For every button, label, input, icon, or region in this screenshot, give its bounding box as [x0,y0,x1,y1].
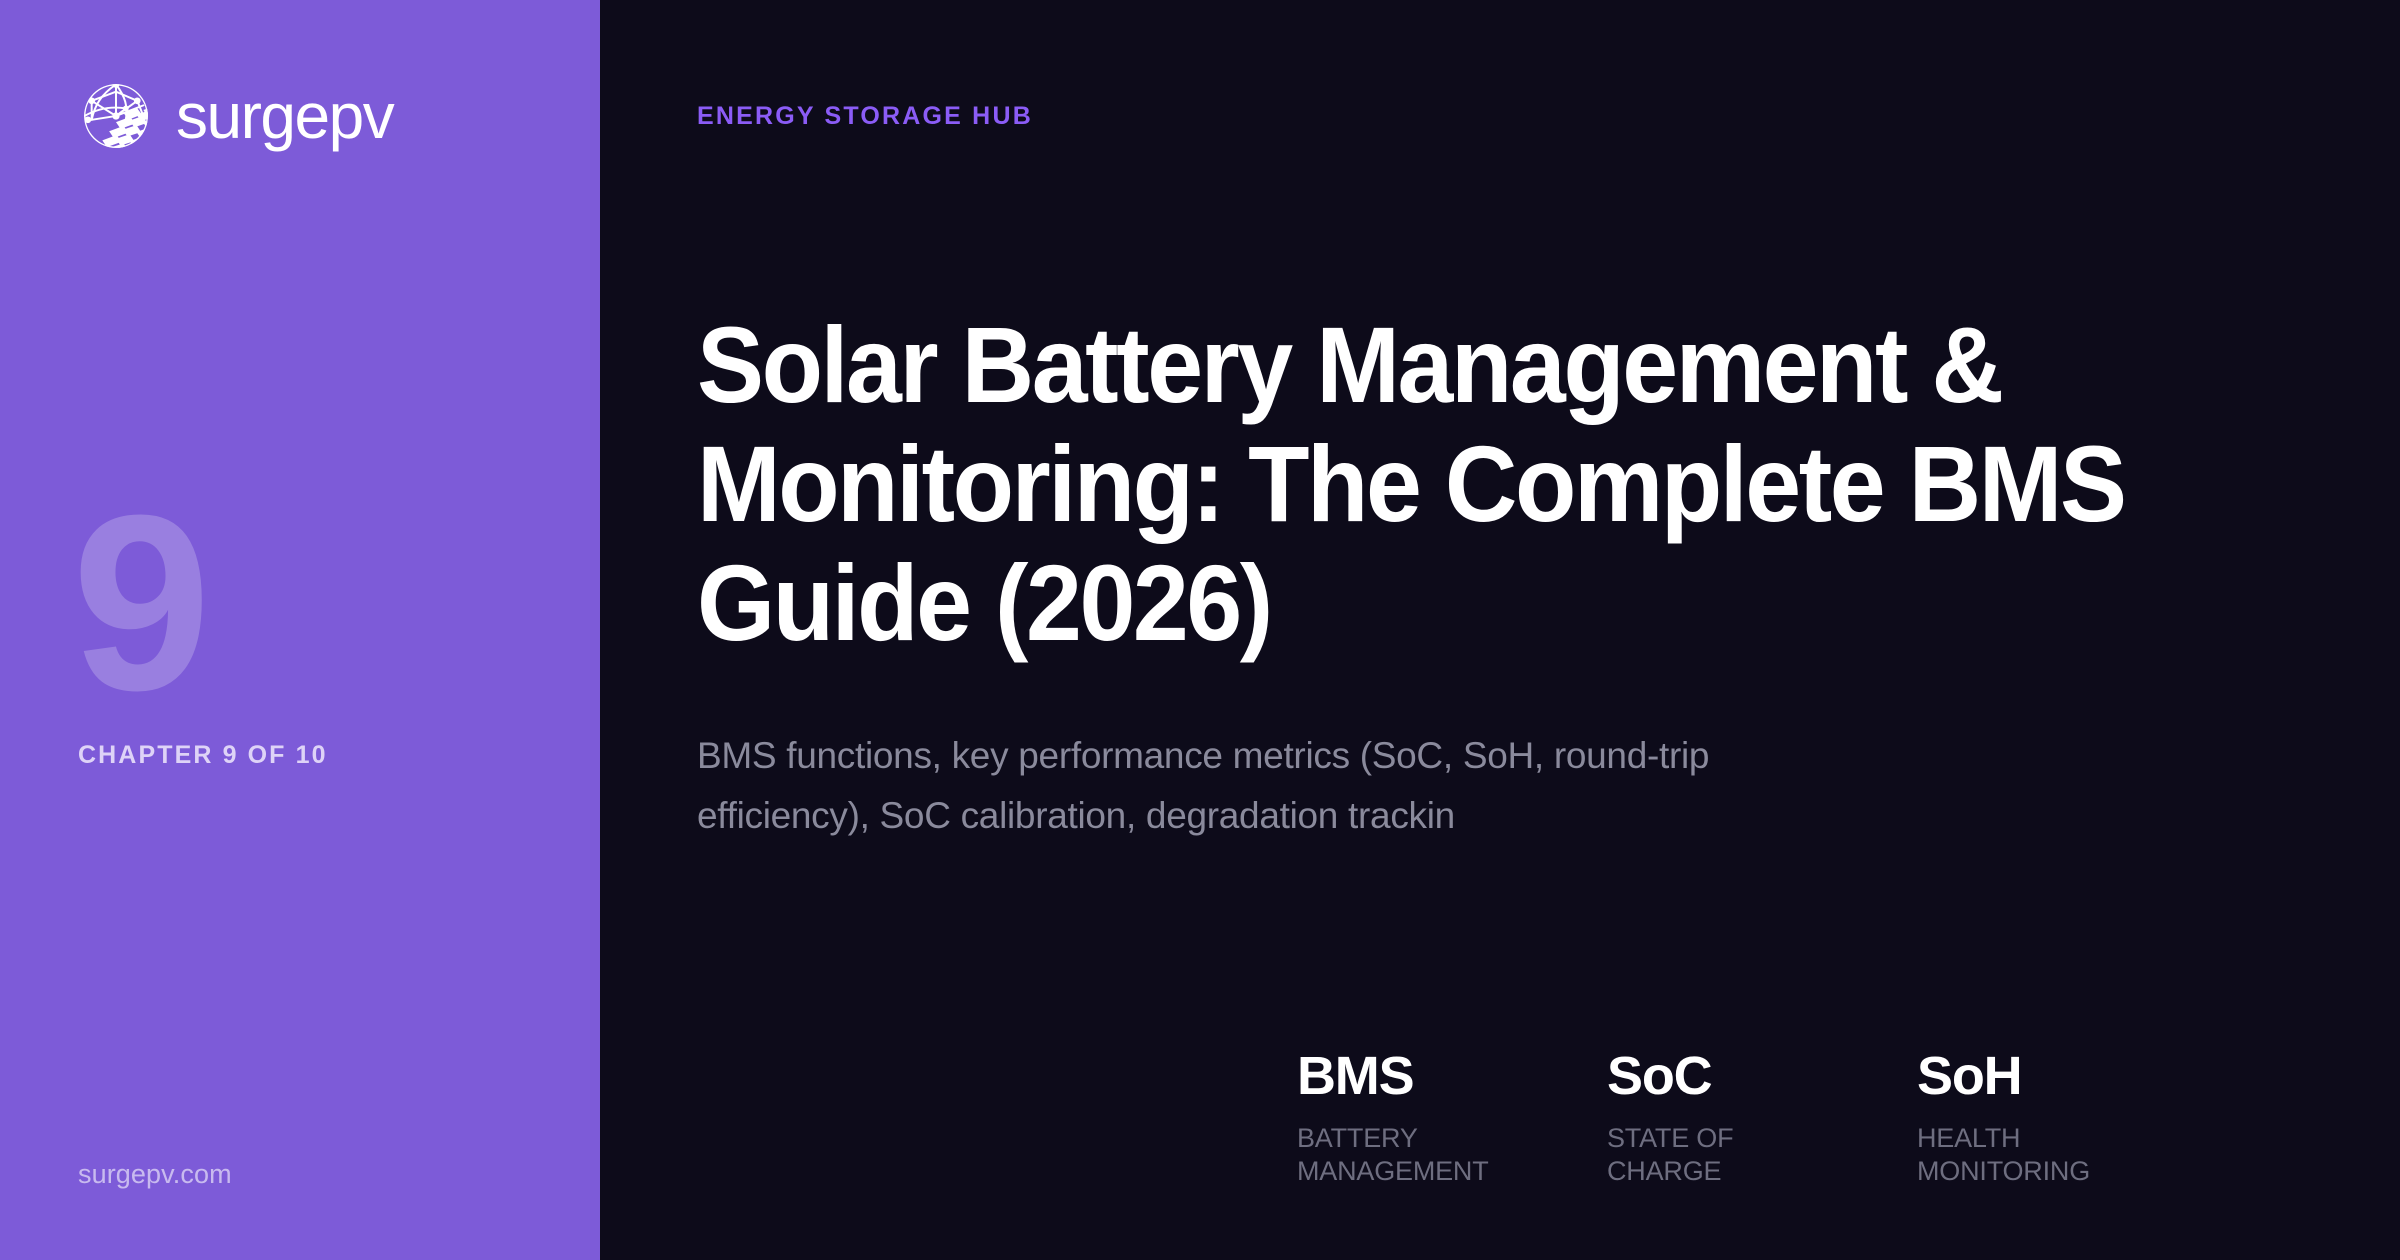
sidebar: surgepv 9 CHAPTER 9 OF 10 surgepv.com [0,0,600,1260]
stat-label: BATTERY MANAGEMENT [1297,1122,1487,1188]
stat-value: SoH [1917,1049,2107,1103]
globe-solar-network-icon [78,78,154,154]
chapter-hero-card: surgepv 9 CHAPTER 9 OF 10 surgepv.com EN… [0,0,2400,1260]
stat-label: HEALTH MONITORING [1917,1122,2107,1188]
chapter-number: 9 [72,500,518,705]
stat-value: BMS [1297,1049,1607,1103]
stat-item: BMS BATTERY MANAGEMENT [1297,1049,1607,1188]
stats-row: BMS BATTERY MANAGEMENT SoC STATE OF CHAR… [1297,1049,2107,1188]
brand-logo[interactable]: surgepv [78,78,393,154]
stat-item: SoC STATE OF CHARGE [1607,1049,1917,1188]
stat-label: STATE OF CHARGE [1607,1122,1797,1188]
page-subtitle: BMS functions, key performance metrics (… [697,726,1727,846]
category-eyebrow: ENERGY STORAGE HUB [697,102,2280,131]
stat-item: SoH HEALTH MONITORING [1917,1049,2107,1188]
brand-wordmark: surgepv [176,84,393,148]
page-title: Solar Battery Management & Monitoring: T… [697,306,2148,662]
website-url[interactable]: surgepv.com [78,1159,232,1190]
chapter-indicator: 9 CHAPTER 9 OF 10 [78,500,518,770]
main-content: ENERGY STORAGE HUB Solar Battery Managem… [600,0,2400,1260]
chapter-label: CHAPTER 9 OF 10 [78,741,518,770]
stat-value: SoC [1607,1049,1917,1103]
